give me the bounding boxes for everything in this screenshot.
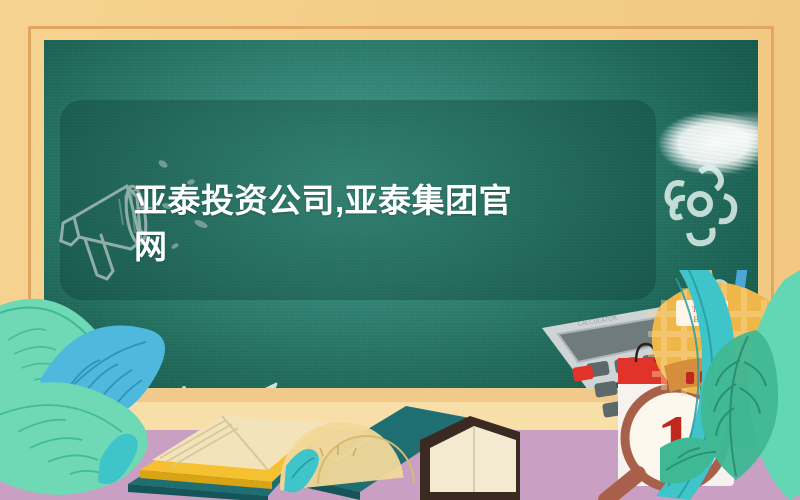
flower-doodle-small-icon xyxy=(672,275,752,355)
page-title-line-2: 网 xyxy=(134,228,168,265)
paper-plane-doodle-icon xyxy=(124,360,304,470)
chalk-smudge-icon xyxy=(644,98,758,193)
poster-root: 亚泰投资公司,亚泰集团官 网 xyxy=(0,0,800,500)
page-title: 亚泰投资公司,亚泰集团官 网 xyxy=(134,178,634,270)
page-title-line-1: 亚泰投资公司,亚泰集团官 xyxy=(134,182,512,219)
